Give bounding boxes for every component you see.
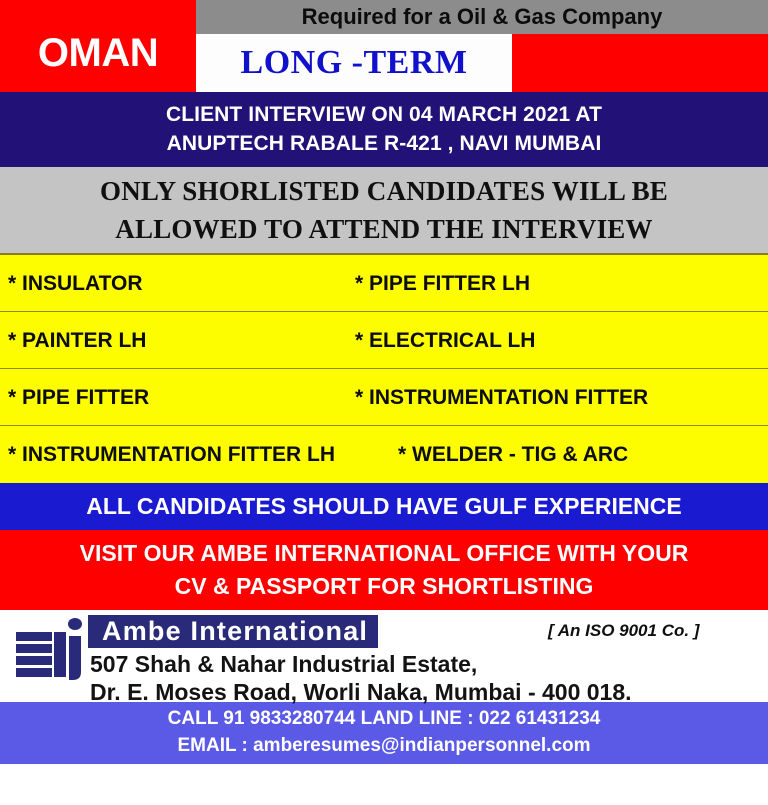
job-title: * INSULATOR <box>8 273 143 294</box>
job-title: * WELDER - TIG & ARC <box>398 444 628 465</box>
phone-numbers-label[interactable]: CALL 91 9833280744 LAND LINE : 022 61431… <box>168 706 601 733</box>
interview-date-line: CLIENT INTERVIEW ON 04 MARCH 2021 AT <box>166 101 602 130</box>
visit-office-banner: VISIT OUR AMBE INTERNATIONAL OFFICE WITH… <box>0 530 768 610</box>
job-title: * ELECTRICAL LH <box>355 330 535 351</box>
job-row: * INSTRUMENTATION FITTER LH * WELDER - T… <box>0 426 768 483</box>
job-title: * INSTRUMENTATION FITTER <box>355 387 648 408</box>
company-name-badge: Ambe International <box>88 615 378 648</box>
interview-venue-line: ANUPTECH RABALE R-421 , NAVI MUMBAI <box>167 130 602 159</box>
poster-header: OMAN Required for a Oil & Gas Company LO… <box>0 0 768 92</box>
job-title: * PIPE FITTER <box>8 387 149 408</box>
job-title: * INSTRUMENTATION FITTER LH <box>8 444 335 465</box>
address-line-1: 507 Shah & Nahar Industrial Estate, <box>90 650 762 678</box>
iso-certification-label: [ An ISO 9001 Co. ] <box>548 622 699 639</box>
company-address: 507 Shah & Nahar Industrial Estate, Dr. … <box>90 650 762 707</box>
shortlist-notice-line1: ONLY SHORLISTED CANDIDATES WILL BE <box>100 172 668 210</box>
job-row: * PAINTER LH * ELECTRICAL LH <box>0 312 768 369</box>
recruitment-advertisement-poster: OMAN Required for a Oil & Gas Company LO… <box>0 0 768 805</box>
term-badge: LONG -TERM <box>196 34 512 92</box>
interview-details-banner: CLIENT INTERVIEW ON 04 MARCH 2021 AT ANU… <box>0 92 768 167</box>
shortlist-notice: ONLY SHORLISTED CANDIDATES WILL BE ALLOW… <box>0 167 768 255</box>
company-name-label: Ambe International <box>102 618 368 645</box>
company-identity-block: Ambe International [ An ISO 9001 Co. ] 5… <box>0 610 768 702</box>
country-badge: OMAN <box>0 0 196 92</box>
contact-footer: CALL 91 9833280744 LAND LINE : 022 61431… <box>0 702 768 764</box>
email-address-label[interactable]: EMAIL : amberesumes@indianpersonnel.com <box>177 733 590 760</box>
required-for-banner: Required for a Oil & Gas Company <box>196 0 768 34</box>
address-line-2: Dr. E. Moses Road, Worli Naka, Mumbai - … <box>90 678 762 706</box>
visit-office-line2: CV & PASSPORT FOR SHORTLISTING <box>175 570 594 603</box>
job-vacancy-list: * INSULATOR * PIPE FITTER LH * PAINTER L… <box>0 255 768 483</box>
gulf-experience-banner: ALL CANDIDATES SHOULD HAVE GULF EXPERIEN… <box>0 483 768 530</box>
term-label: LONG -TERM <box>241 46 468 80</box>
visit-office-line1: VISIT OUR AMBE INTERNATIONAL OFFICE WITH… <box>80 537 689 570</box>
gulf-experience-label: ALL CANDIDATES SHOULD HAVE GULF EXPERIEN… <box>86 495 681 518</box>
job-row: * PIPE FITTER * INSTRUMENTATION FITTER <box>0 369 768 426</box>
country-label: OMAN <box>38 33 158 73</box>
shortlist-notice-line2: ALLOWED TO ATTEND THE INTERVIEW <box>115 210 652 248</box>
job-title: * PIPE FITTER LH <box>355 273 530 294</box>
job-row: * INSULATOR * PIPE FITTER LH <box>0 255 768 312</box>
ambe-international-logo-icon <box>14 614 86 690</box>
job-title: * PAINTER LH <box>8 330 146 351</box>
required-for-label: Required for a Oil & Gas Company <box>302 6 663 28</box>
